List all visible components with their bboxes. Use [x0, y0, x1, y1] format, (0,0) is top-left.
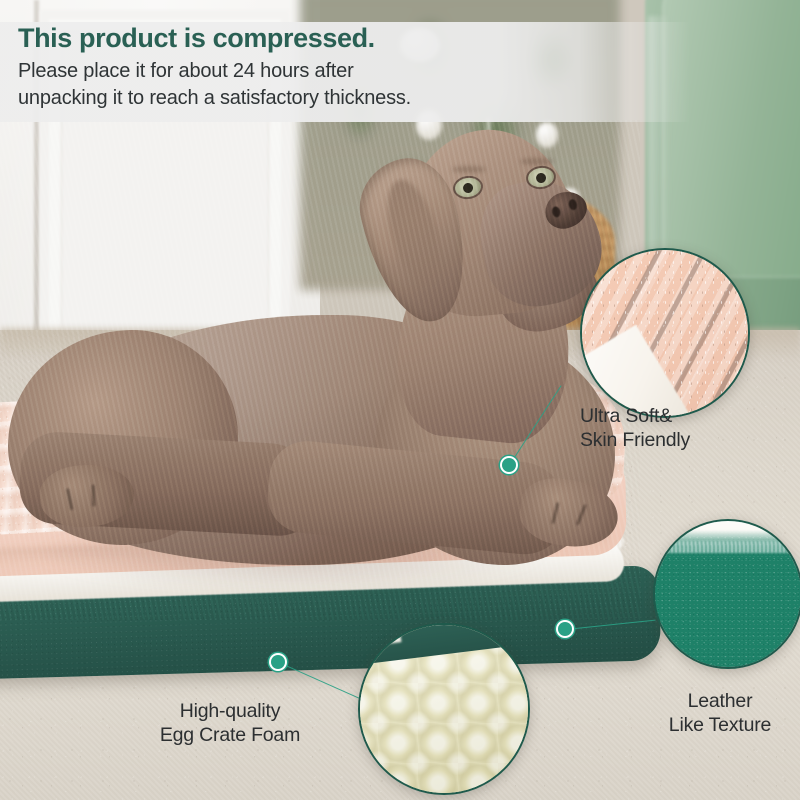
header-subtitle-line-1: Please place it for about 24 hours after: [18, 60, 354, 82]
label-line-2: Skin Friendly: [580, 429, 690, 451]
callout-label-egg-crate-foam: High-qualityEgg Crate Foam: [120, 700, 340, 748]
marker-dot-foam[interactable]: [271, 655, 285, 669]
label-line-2: Like Texture: [669, 714, 771, 736]
closeup-bubble-egg-crate-foam[interactable]: [358, 623, 530, 795]
paw-toe-split: [66, 488, 74, 510]
leather-fuzz-edge: [653, 541, 800, 553]
label-line-1: Ultra Soft&: [580, 405, 672, 427]
dog-pupil: [462, 182, 473, 193]
label-line-1: High-quality: [180, 700, 281, 722]
closeup-bubble-plush-fabric[interactable]: [580, 248, 750, 418]
header-subtitle: Please place it for about 24 hours after…: [18, 58, 658, 113]
dog-nostril: [551, 206, 561, 219]
dog-brow: [520, 158, 554, 165]
header-title: This product is compressed.: [18, 22, 658, 56]
weimaraner-dog: [0, 120, 640, 620]
dog-nostril: [568, 198, 578, 211]
paw-toe-split: [576, 504, 587, 526]
product-marketing-image: Ultra Soft&Skin Friendly LeatherLike Tex…: [0, 0, 800, 800]
marker-dot-ultra-soft[interactable]: [502, 458, 516, 472]
header-subtitle-line-2: unpacking it to reach a satisfactory thi…: [18, 87, 411, 109]
paw-toe-split: [92, 485, 96, 507]
callout-label-leather: LeatherLike Texture: [640, 690, 800, 738]
closeup-bubble-leather-texture[interactable]: [653, 519, 800, 669]
callout-label-ultra-soft: Ultra Soft&Skin Friendly: [580, 405, 690, 453]
dog-pupil: [535, 172, 546, 183]
header-text-block: This product is compressed. Please place…: [18, 22, 658, 113]
paw-toe-split: [551, 502, 559, 524]
label-line-1: Leather: [688, 690, 753, 712]
dog-brow: [452, 166, 486, 173]
label-line-2: Egg Crate Foam: [160, 724, 300, 746]
marker-dot-leather[interactable]: [558, 622, 572, 636]
